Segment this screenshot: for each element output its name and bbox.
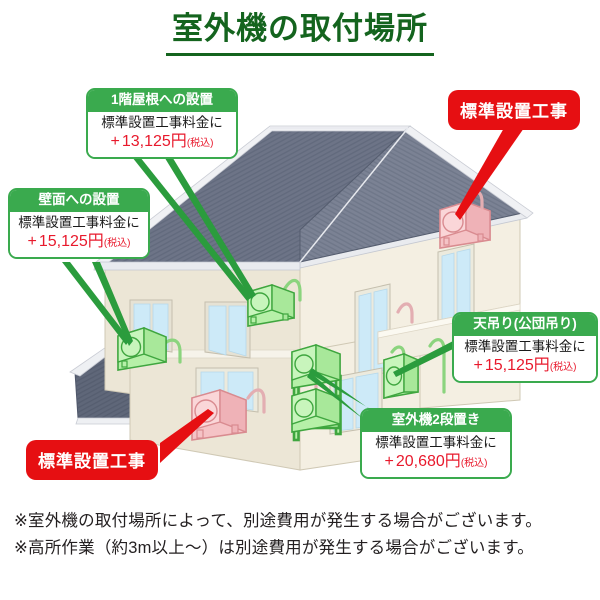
amount: 15,125	[39, 233, 88, 250]
callout-two-tier-header: 室外機2段置き	[362, 410, 510, 432]
callout-roof-1f-price: +13,125円(税込)	[94, 132, 230, 152]
unit-ceiling-suspended	[384, 354, 418, 398]
callout-wall-mount-body: 標準設置工事料金に +15,125円(税込)	[10, 212, 148, 257]
callout-ceiling-suspend-header: 天吊り(公団吊り)	[454, 314, 596, 336]
currency: 円	[88, 233, 104, 250]
footer-note-1: ※室外機の取付場所によって、別途費用が発生する場合がございます。	[14, 508, 592, 535]
amount: 13,125	[122, 133, 171, 150]
callout-wall-mount-price: +15,125円(税込)	[16, 232, 142, 252]
amount: 20,680	[396, 453, 445, 470]
callout-wall-mount-header: 壁面への設置	[10, 190, 148, 212]
currency: 円	[534, 357, 550, 374]
tax-note: (税込)	[104, 238, 131, 249]
tax-note: (税込)	[461, 458, 488, 469]
callout-wall-mount[interactable]: 壁面への設置 標準設置工事料金に +15,125円(税込)	[8, 188, 150, 259]
footer-note-2: ※高所作業（約3m以上〜）は別途費用が発生する場合がございます。	[14, 535, 592, 562]
plus-sign: +	[28, 233, 37, 250]
badge-standard-installation-top[interactable]: 標準設置工事	[448, 90, 580, 130]
callout-roof-1f-header: 1階屋根への設置	[88, 90, 236, 112]
callout-ceiling-suspend-body: 標準設置工事料金に +15,125円(税込)	[454, 336, 596, 381]
callout-ceiling-suspend[interactable]: 天吊り(公団吊り) 標準設置工事料金に +15,125円(税込)	[452, 312, 598, 383]
plus-sign: +	[385, 453, 394, 470]
plus-sign: +	[474, 357, 483, 374]
callout-roof-1f-line1: 標準設置工事料金に	[94, 115, 230, 131]
callout-roof-1f-body: 標準設置工事料金に +13,125円(税込)	[88, 112, 236, 157]
callout-roof-1f[interactable]: 1階屋根への設置 標準設置工事料金に +13,125円(税込)	[86, 88, 238, 159]
callout-two-tier-price: +20,680円(税込)	[368, 452, 504, 472]
callout-two-tier-line1: 標準設置工事料金に	[368, 435, 504, 451]
badge-standard-installation-bottom[interactable]: 標準設置工事	[26, 440, 158, 480]
tax-note: (税込)	[550, 362, 577, 373]
plus-sign: +	[111, 133, 120, 150]
footer-notes: ※室外機の取付場所によって、別途費用が発生する場合がございます。 ※高所作業（約…	[14, 508, 592, 562]
tax-note: (税込)	[187, 138, 214, 149]
unit-on-1f-roof	[248, 285, 294, 326]
window	[205, 302, 250, 358]
callout-ceiling-suspend-line1: 標準設置工事料金に	[460, 339, 590, 355]
callout-wall-mount-line1: 標準設置工事料金に	[16, 215, 142, 231]
currency: 円	[171, 133, 187, 150]
amount: 15,125	[485, 357, 534, 374]
callout-ceiling-suspend-price: +15,125円(税込)	[460, 356, 590, 376]
callout-two-tier[interactable]: 室外機2段置き 標準設置工事料金に +20,680円(税込)	[360, 408, 512, 479]
callout-two-tier-body: 標準設置工事料金に +20,680円(税込)	[362, 432, 510, 477]
infographic-page: 室外機の取付場所	[0, 0, 600, 600]
currency: 円	[445, 453, 461, 470]
